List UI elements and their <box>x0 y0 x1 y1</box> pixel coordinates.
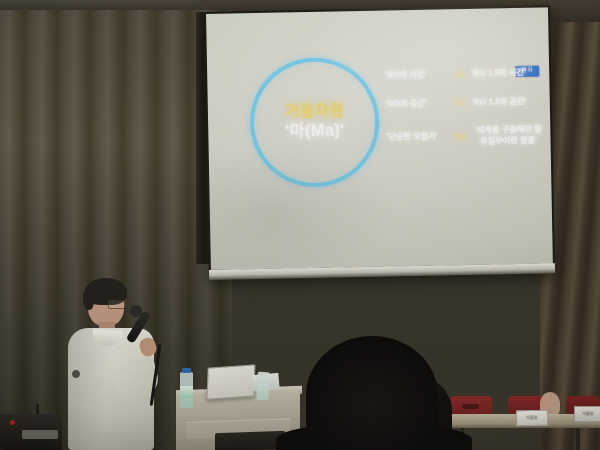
name-placard: 이름표 <box>516 410 548 427</box>
slide-row: '단순한 모험가' 변화 '세계를 구원해야 할 유일무이한 영웅' <box>386 125 544 149</box>
podium-vent <box>215 431 285 450</box>
presenter-badge <box>72 370 80 378</box>
equipment-indicator-light <box>10 420 15 425</box>
name-placard-text: 이름표 <box>517 415 547 422</box>
slide-row-connector: 공존 <box>449 98 471 107</box>
circle-title-top: 거울차원 <box>285 103 344 122</box>
water-bottle-cap <box>182 368 191 373</box>
slide-row-connector: 변화 <box>449 132 471 141</box>
audience-head-foreground <box>306 336 438 450</box>
chair-handle-slot <box>462 404 479 409</box>
presenter-hair-side <box>83 288 94 310</box>
projection-screen: 변화 거울차원 '마(Ma)' 'RO의 시간' 공존 'RO 1.5의 시간'… <box>204 5 555 280</box>
name-placard-text: 이름표 <box>575 411 600 417</box>
slide-row: 'RO의 시간' 공존 'RO 1.5의 시간' <box>385 67 543 81</box>
slide-row-left: 'RO의 공간' <box>386 98 448 110</box>
slide-row-left: 'RO의 시간' <box>385 69 447 81</box>
laptop <box>206 364 255 400</box>
slide-row-right: 'RO 1.5의 시간' <box>471 67 543 79</box>
equipment-panel <box>22 430 58 439</box>
presenter <box>66 280 182 450</box>
presenter-glasses <box>108 300 126 309</box>
slide-comparison-rows: 'RO의 시간' 공존 'RO 1.5의 시간' 'RO의 공간' 공존 'RO… <box>385 67 544 148</box>
name-placard: 이름표 <box>574 406 600 422</box>
slide-row: 'RO의 공간' 공존 'RO 1.5의 공간' <box>386 96 544 110</box>
slide-row-right: 'RO 1.5의 공간' <box>472 96 544 108</box>
slide-row-connector: 공존 <box>448 70 470 79</box>
slide-row-right: '세계를 구원해야 할 유일무이한 영웅' <box>472 125 544 147</box>
slide-content: 변화 거울차원 '마(Ma)' 'RO의 시간' 공존 'RO 1.5의 시간'… <box>206 7 553 270</box>
circle-title-bottom: '마(Ma)' <box>285 121 344 142</box>
water-bottle-label <box>180 386 193 398</box>
slide-row-left: '단순한 모험가' <box>386 132 448 144</box>
water-bottle-secondary <box>256 372 269 401</box>
slide-circle-emblem: 거울차원 '마(Ma)' <box>249 57 380 188</box>
presentation-photo-scene: 변화 거울차원 '마(Ma)' 'RO의 시간' 공존 'RO 1.5의 시간'… <box>0 0 600 450</box>
table-leg <box>576 428 580 450</box>
